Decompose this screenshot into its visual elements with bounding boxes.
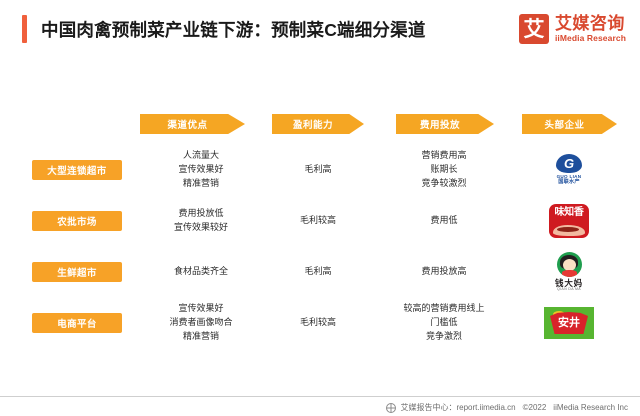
meat-illustration-icon	[553, 225, 585, 236]
table-row: 农批市场 费用投放低 宣传效果较好 毛利较高 费用低 味知香	[0, 197, 640, 245]
brand-mark-icon: 艾	[519, 14, 549, 44]
cell-profitability: 毛利高	[262, 248, 374, 296]
brand-logo: 艾 艾媒咨询 iiMedia Research	[519, 12, 626, 46]
body-shape	[562, 270, 577, 277]
weizhixiang-logo-icon: 味知香	[549, 204, 589, 238]
qiandama-logo-icon: 钱大妈 QIAN DA MA	[555, 252, 583, 292]
row-label-wrap: 农批市场	[32, 197, 122, 245]
row-label-wrap: 电商平台	[32, 299, 122, 347]
cell-advantages: 宣传效果好 消费者画像吻合 精准营销	[140, 299, 262, 347]
globe-icon	[386, 403, 396, 413]
footer-divider	[0, 396, 640, 397]
company-logo-guolian: G GUO LIAN 国联水产	[542, 149, 596, 191]
brand-name-cn: 艾媒咨询	[555, 15, 626, 33]
brand-name-en: iiMedia Research	[555, 33, 626, 43]
cell-profitability: 毛利高	[262, 146, 374, 194]
row-label-wrap: 生鲜超市	[32, 248, 122, 296]
company-logo-anjoy: 安井	[542, 302, 596, 344]
footer-copyright: ©2022	[523, 403, 547, 412]
table-row: 生鲜超市 食材品类齐全 毛利高 费用投放高 钱大妈 QIAN DA MA	[0, 248, 640, 296]
cell-company: 味知香	[514, 197, 624, 245]
channel-table: 大型连锁超市 人流量大 宣传效果好 精准营销 毛利高 营销费用高 账期长 竞争较…	[0, 146, 640, 350]
company-logo-qiandama: 钱大妈 QIAN DA MA	[542, 251, 596, 293]
title-accent-bar	[22, 15, 27, 43]
row-label-wholesale-market: 农批市场	[32, 211, 122, 231]
cell-advantages: 人流量大 宣传效果好 精准营销	[140, 146, 262, 194]
cell-cost: 费用投放高	[374, 248, 514, 296]
page-footer: 艾媒报告中心：report.iimedia.cn ©2022 iiMedia R…	[0, 399, 640, 416]
cell-company: 钱大妈 QIAN DA MA	[514, 248, 624, 296]
weizhixiang-name-cn: 味知香	[554, 208, 583, 218]
footer-company: iiMedia Research Inc	[553, 403, 628, 412]
brand-wordmark: 艾媒咨询 iiMedia Research	[555, 15, 626, 43]
face-shape	[563, 259, 576, 271]
row-label-supermarket: 大型连锁超市	[32, 160, 122, 180]
column-header-companies: 头部企业	[522, 114, 617, 134]
qiandama-name-cn: 钱大妈	[555, 279, 583, 288]
footer-source: 艾媒报告中心：report.iimedia.cn	[400, 402, 515, 413]
cell-profitability: 毛利较高	[262, 299, 374, 347]
qiandama-name-en: QIAN DA MA	[557, 288, 581, 292]
guolian-logo-icon: G GUO LIAN 国联水产	[556, 154, 582, 185]
row-label-fresh-supermarket: 生鲜超市	[32, 262, 122, 282]
anjoy-name-cn: 安井	[558, 318, 580, 329]
column-headers: 渠道优点 盈利能力 费用投放 头部企业	[0, 114, 640, 136]
column-header-advantages: 渠道优点	[140, 114, 245, 134]
cell-cost: 较高的营销费用线上 门槛低 竞争激烈	[374, 299, 514, 347]
cell-company: 安井	[514, 299, 624, 347]
guolian-emblem-icon: G	[556, 154, 582, 173]
cell-cost: 营销费用高 账期长 竞争较激烈	[374, 146, 514, 194]
woman-face-icon	[557, 252, 582, 277]
column-header-profitability: 盈利能力	[272, 114, 364, 134]
guolian-name-cn: 国联水产	[558, 180, 580, 185]
cell-advantages: 费用投放低 宣传效果较好	[140, 197, 262, 245]
cell-cost: 费用低	[374, 197, 514, 245]
page-header: 中国肉禽预制菜产业链下游：预制菜C端细分渠道 艾 艾媒咨询 iiMedia Re…	[0, 0, 640, 58]
cell-profitability: 毛利较高	[262, 197, 374, 245]
cell-advantages: 食材品类齐全	[140, 248, 262, 296]
row-label-wrap: 大型连锁超市	[32, 146, 122, 194]
cell-company: G GUO LIAN 国联水产	[514, 146, 624, 194]
fan-banner-shape: 安井	[550, 312, 588, 334]
table-row: 电商平台 宣传效果好 消费者画像吻合 精准营销 毛利较高 较高的营销费用线上 门…	[0, 299, 640, 347]
page-title: 中国肉禽预制菜产业链下游：预制菜C端细分渠道	[41, 17, 426, 42]
table-row: 大型连锁超市 人流量大 宣传效果好 精准营销 毛利高 营销费用高 账期长 竞争较…	[0, 146, 640, 194]
column-header-cost: 费用投放	[396, 114, 494, 134]
row-label-ecommerce: 电商平台	[32, 313, 122, 333]
anjoy-logo-icon: 安井	[544, 307, 594, 339]
company-logo-weizhixiang: 味知香	[542, 200, 596, 242]
